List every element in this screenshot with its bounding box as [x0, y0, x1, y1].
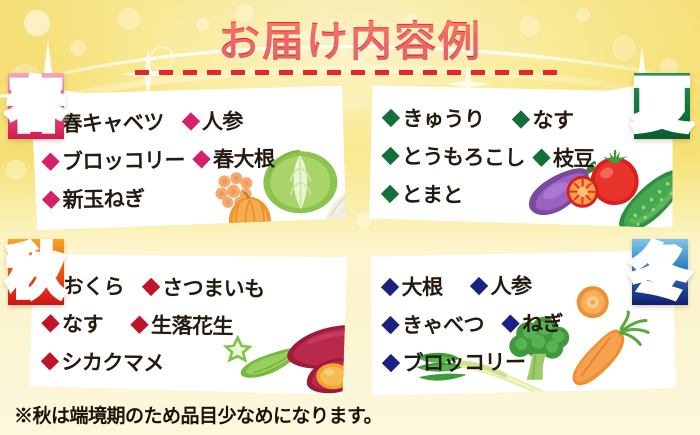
season-card-autumn: おくら さつまいも なす 生落花生	[29, 252, 349, 397]
item-label: ねぎ	[522, 312, 563, 333]
diamond-bullet-icon	[130, 315, 148, 333]
item-label: シカクマメ	[61, 351, 164, 374]
season-badge-spring: 春	[8, 78, 64, 134]
season-badge-spring-label: 春	[8, 73, 64, 139]
list-row: きゅうり なす	[384, 98, 665, 139]
item-label: ブロッコリー	[62, 149, 185, 172]
item-label: おくら	[62, 275, 124, 297]
diamond-bullet-icon	[532, 148, 550, 166]
list-row: とうもろこし 枝豆	[384, 136, 665, 177]
list-item: ブロッコリー	[44, 149, 185, 172]
diamond-bullet-icon	[382, 353, 400, 371]
footer-note: ※秋は端境期のため品目少なめになります。	[14, 401, 382, 428]
list-item: きゅうり	[384, 107, 484, 129]
list-row: 春キャベツ 人参	[43, 100, 335, 143]
season-badge-summer-label: 夏	[634, 73, 690, 139]
bokeh-dot	[6, 160, 26, 180]
item-label: 大根	[401, 275, 442, 296]
list-item: とまと	[383, 183, 463, 205]
list-item: とうもろこし	[384, 145, 525, 168]
list-item: なす	[44, 312, 103, 334]
item-label: 枝豆	[553, 147, 594, 168]
list-row: シカクマメ	[43, 342, 338, 385]
diamond-bullet-icon	[381, 277, 399, 295]
diamond-bullet-icon	[41, 314, 59, 332]
list-row: 新玉ねぎ	[44, 176, 336, 219]
list-item: ねぎ	[504, 312, 563, 334]
list-item: ブロッコリー	[384, 350, 525, 373]
diamond-bullet-icon	[192, 150, 210, 168]
season-card-summer: きゅうり なす とうもろこし 枝豆	[369, 84, 676, 228]
item-label: 春大根	[213, 147, 275, 169]
spring-item-list: 春キャベツ 人参 ブロッコリー 春大根	[29, 86, 346, 231]
title-divider	[135, 70, 565, 75]
item-label: 生落花生	[151, 314, 233, 336]
item-label: 新玉ねぎ	[62, 187, 144, 209]
diamond-bullet-icon	[181, 112, 199, 130]
item-label: なす	[532, 109, 573, 130]
season-badge-autumn-label: 秋	[8, 239, 64, 305]
diamond-bullet-icon	[381, 184, 399, 202]
item-label: さつまいも	[162, 276, 265, 299]
list-item: 人参	[184, 110, 243, 132]
list-row: おくら さつまいも	[44, 266, 339, 309]
diamond-bullet-icon	[41, 152, 59, 170]
item-label: きゃべつ	[402, 313, 484, 335]
diamond-bullet-icon	[41, 352, 59, 370]
season-badge-autumn: 秋	[8, 244, 64, 300]
summer-item-list: きゅうり なす とうもろこし 枝豆	[369, 84, 676, 228]
list-row: ブロッコリー 春大根	[44, 138, 336, 181]
season-card-spring: 春キャベツ 人参 ブロッコリー 春大根	[29, 86, 346, 231]
autumn-item-list: おくら さつまいも なす 生落花生	[29, 252, 349, 397]
item-label: ブロッコリー	[402, 350, 525, 373]
list-item: シカクマメ	[43, 350, 164, 373]
item-label: とうもろこし	[402, 145, 525, 168]
item-label: きゅうり	[402, 107, 484, 129]
diamond-bullet-icon	[470, 276, 488, 294]
season-badge-summer: 夏	[634, 78, 690, 134]
list-item: きゃべつ	[384, 313, 484, 335]
list-row: ブロッコリー	[384, 340, 665, 381]
item-label: とまと	[401, 183, 463, 205]
season-badge-winter-label: 冬	[632, 239, 688, 305]
list-item: なす	[514, 108, 573, 130]
page-title: お届け内容例	[0, 8, 700, 69]
list-item: さつまいも	[144, 276, 265, 299]
item-label: 春キャベツ	[61, 111, 164, 134]
diamond-bullet-icon	[382, 108, 400, 126]
diamond-bullet-icon	[381, 146, 399, 164]
diamond-bullet-icon	[501, 314, 519, 332]
list-row: 大根 人参	[383, 264, 664, 305]
season-card-winter: 大根 人参 きゃべつ ねぎ	[369, 250, 676, 396]
item-label: 人参	[490, 274, 531, 295]
diamond-bullet-icon	[42, 190, 60, 208]
diamond-bullet-icon	[381, 315, 399, 333]
list-item: 生落花生	[133, 314, 233, 337]
diamond-bullet-icon	[512, 110, 530, 128]
list-row: きゃべつ ねぎ	[384, 302, 665, 343]
item-label: なす	[62, 313, 103, 335]
list-item: 枝豆	[535, 147, 594, 169]
item-label: 人参	[202, 110, 243, 132]
list-item: 人参	[472, 274, 531, 296]
list-item: 大根	[383, 275, 442, 297]
season-badge-winter: 冬	[632, 244, 688, 300]
list-item: 新玉ねぎ	[44, 187, 144, 210]
winter-item-list: 大根 人参 きゃべつ ねぎ	[369, 250, 676, 396]
list-row: とまと	[383, 174, 664, 215]
promo-graphic: お届け内容例	[0, 0, 700, 435]
diamond-bullet-icon	[141, 277, 159, 295]
list-item: 春大根	[195, 147, 275, 169]
list-row: なす 生落花生	[44, 304, 339, 347]
